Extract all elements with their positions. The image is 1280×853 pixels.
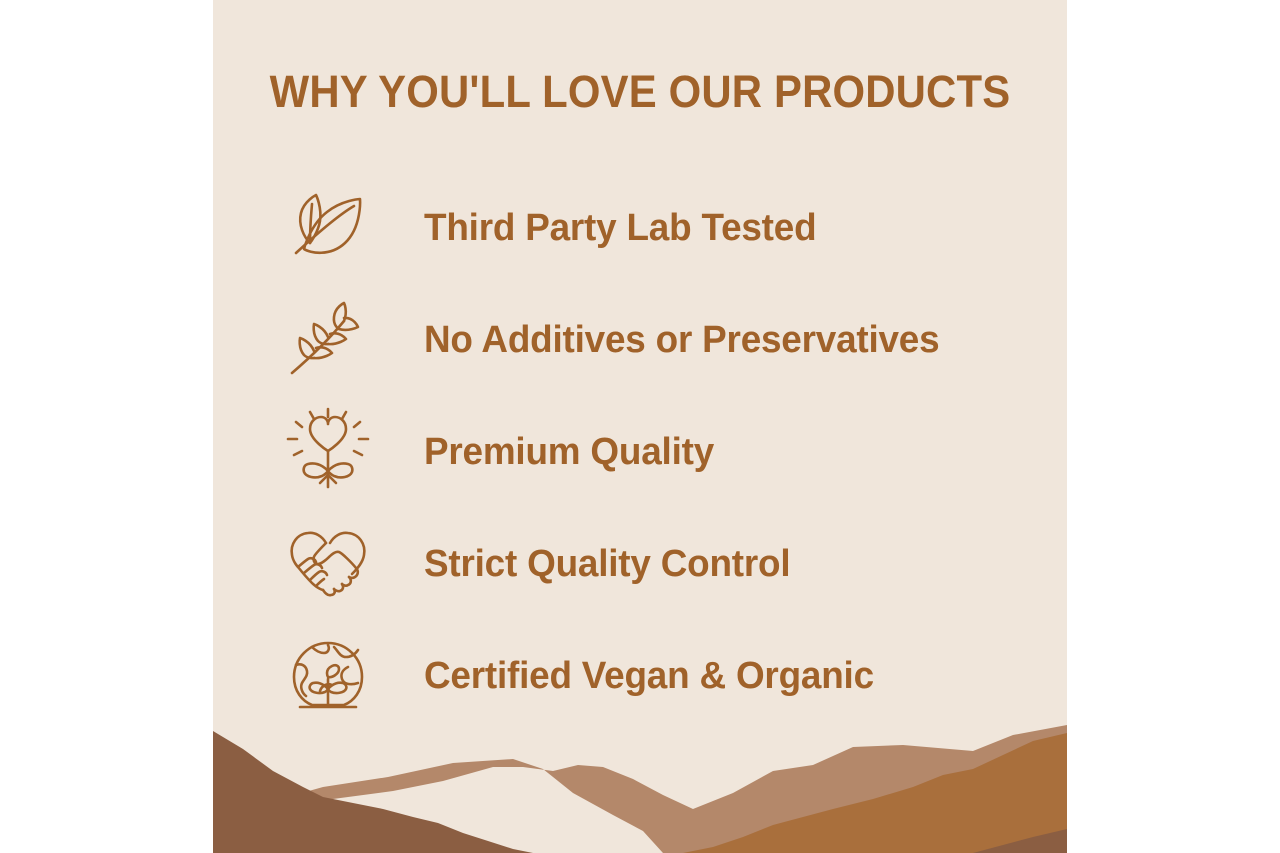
mountain-range [213, 713, 1067, 853]
list-item: No Additives or Preservatives [275, 284, 1065, 396]
globe-sprout-icon [275, 630, 381, 722]
feature-label: No Additives or Preservatives [424, 319, 939, 362]
promo-panel: WHY YOU'LL LOVE OUR PRODUCTS Third Party… [213, 0, 1067, 853]
feature-label: Premium Quality [424, 431, 714, 474]
feature-label: Strict Quality Control [424, 543, 790, 586]
feature-list: Third Party Lab Tested No Additives or [275, 172, 1065, 732]
feature-label: Third Party Lab Tested [424, 207, 816, 250]
list-item: Third Party Lab Tested [275, 172, 1065, 284]
feature-label: Certified Vegan & Organic [424, 655, 874, 698]
branch-icon [275, 294, 381, 386]
image-canvas: WHY YOU'LL LOVE OUR PRODUCTS Third Party… [0, 0, 1280, 853]
list-item: Strict Quality Control [275, 508, 1065, 620]
handshake-heart-icon [275, 518, 381, 610]
page-title: WHY YOU'LL LOVE OUR PRODUCTS [243, 66, 1037, 118]
list-item: Premium Quality [275, 396, 1065, 508]
heart-flower-icon [275, 406, 381, 498]
leaf-icon [275, 182, 381, 274]
